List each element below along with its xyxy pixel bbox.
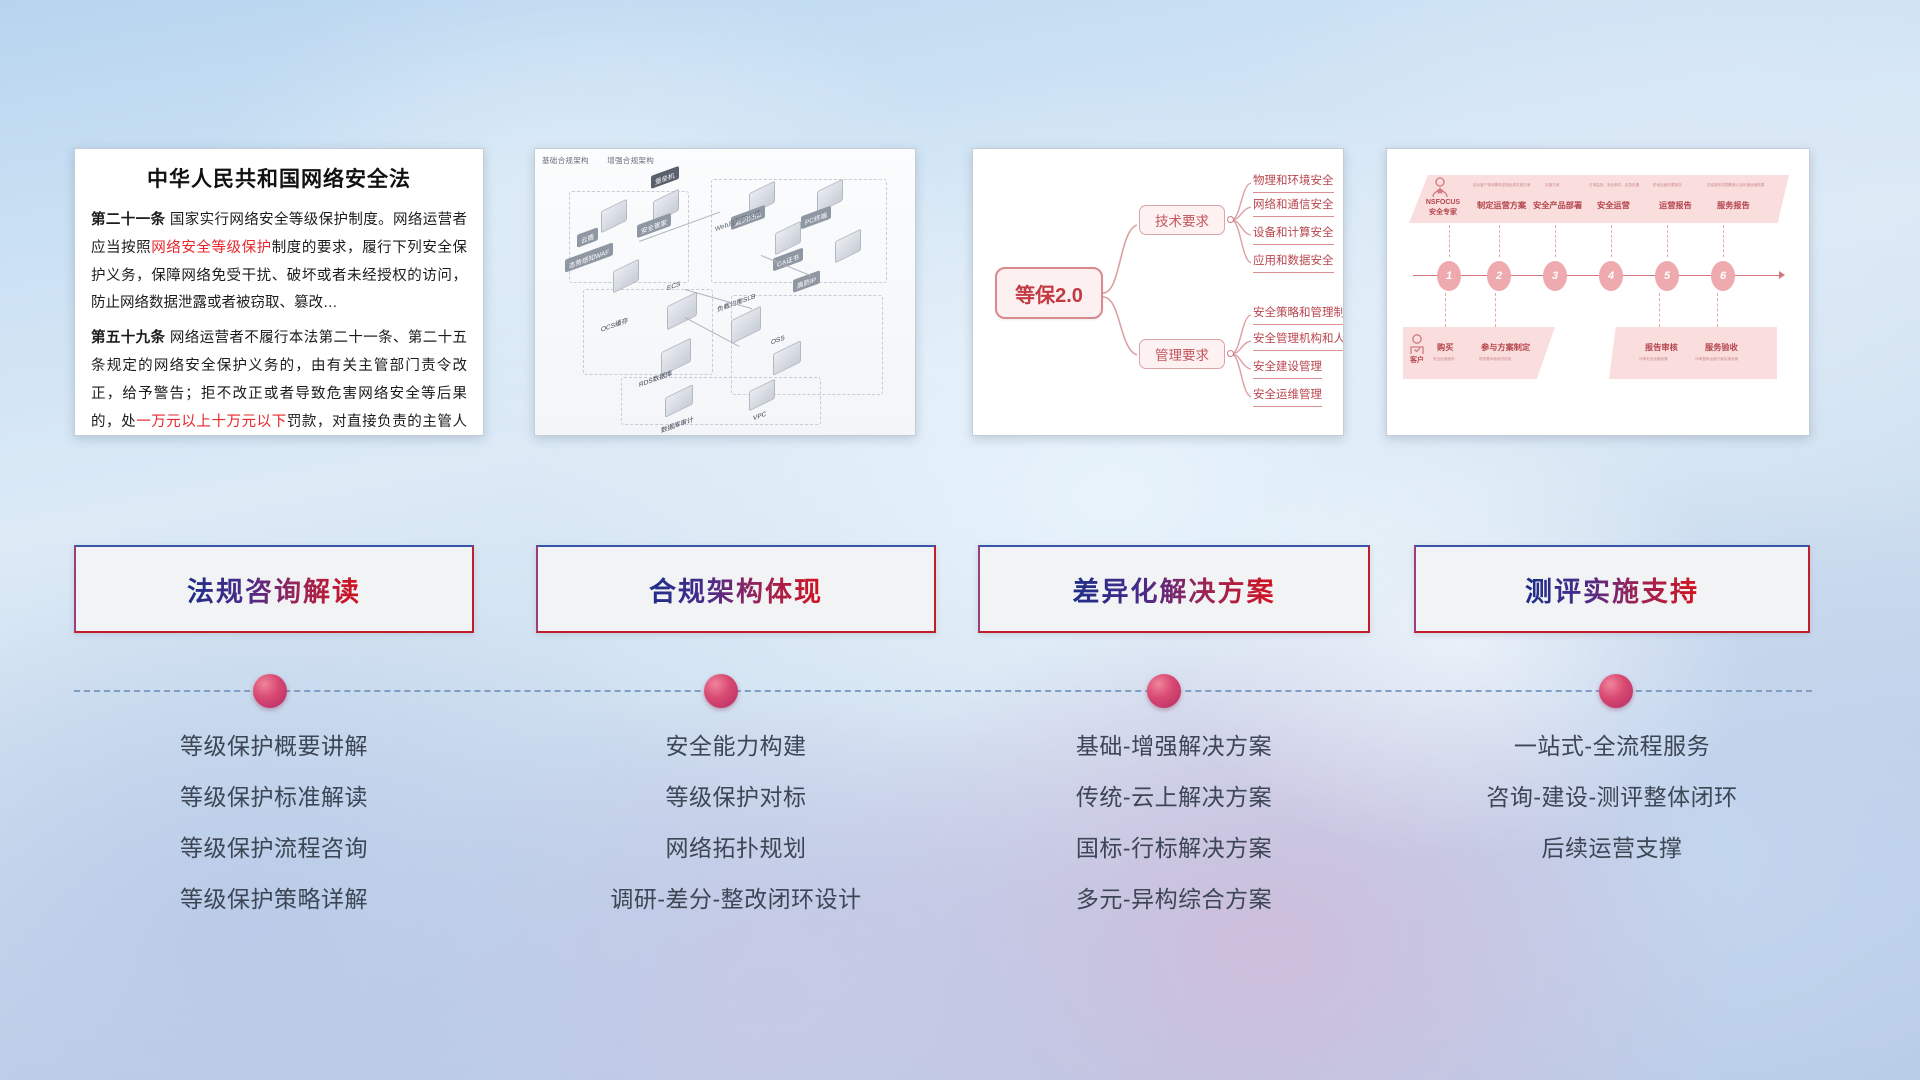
section-title-box-1[interactable]: 法规咨询解读	[74, 545, 474, 633]
mindmap-leaf: 应用和数据安全	[1253, 253, 1334, 273]
architecture-label: 堡垒机	[651, 166, 679, 189]
section-title-text: 合规架构体现	[649, 570, 823, 609]
timeline-bottom-left-band	[1403, 327, 1555, 379]
detail-columns: 等级保护概要讲解 等级保护标准解读 等级保护流程咨询 等级保护策略详解 安全能力…	[0, 735, 1920, 975]
list-item: 等级保护概要讲解	[74, 735, 474, 758]
timeline-step-note: 提供基本面状况信息	[1479, 357, 1511, 362]
timeline-step-number: 6	[1711, 261, 1735, 291]
timeline-dash-connector	[1717, 293, 1718, 327]
mindmap-leaf: 安全运维管理	[1253, 387, 1322, 407]
timeline-dash-connector	[1723, 225, 1724, 257]
timeline-dash-connector	[1659, 293, 1660, 327]
list-item: 咨询-建设-测评整体闭环	[1414, 786, 1810, 809]
law-article-59-label: 第五十九条	[91, 330, 165, 346]
architecture-header-right: 增强合规架构	[607, 156, 654, 165]
timeline-node-4[interactable]	[1599, 674, 1633, 708]
section-title-box-4[interactable]: 测评实施支持	[1414, 545, 1810, 633]
mindmap-leaf: 设备和计算安全	[1253, 225, 1334, 245]
mindmap-card: 等保2.0 技术要求 物理和环境安全 网络和通信安全 设备和计算安全 应用和数据…	[972, 148, 1344, 436]
timeline-dash-connector	[1499, 225, 1500, 257]
timeline-step-number: 1	[1437, 261, 1461, 291]
mindmap-collapse-icon	[1227, 216, 1234, 223]
list-item: 调研-差分-整改闭环设计	[536, 888, 936, 911]
law-article-21: 第二十一条 国家实行网络安全等级保护制度。网络运营者应当按照网络安全等级保护制度…	[91, 207, 467, 318]
timeline-step-title: 报告审核	[1645, 341, 1678, 353]
list-item: 等级保护流程咨询	[74, 837, 474, 860]
timeline-step-title: 购买	[1437, 341, 1453, 353]
timeline-step-title: 服务报告	[1717, 199, 1750, 211]
timeline-step-title: 安全运营	[1597, 199, 1630, 211]
mindmap-leaf: 网络和通信安全	[1253, 197, 1334, 217]
list-item: 等级保护标准解读	[74, 786, 474, 809]
timeline-step-number: 4	[1599, 261, 1623, 291]
architecture-header-left: 基础合规架构	[542, 156, 589, 165]
architecture-canvas: 基础合规架构 增强合规架构	[535, 149, 915, 435]
law-article-59-highlight-1: 一万元以上十万元以下	[136, 414, 287, 430]
timeline-step-number: 3	[1543, 261, 1567, 291]
list-item: 多元-异构综合方案	[978, 888, 1370, 911]
timeline-dashed-line	[74, 690, 1812, 692]
list-item: 传统-云上解决方案	[978, 786, 1370, 809]
law-article-21-highlight: 网络安全等级保护	[151, 240, 272, 256]
service-timeline-card: NSFOCUS 安全专家 结合客户现状需求定制出具实施方案 制定运营方案 实施方…	[1386, 148, 1810, 436]
timeline-node-1[interactable]	[253, 674, 287, 708]
list-item: 网络拓扑规划	[536, 837, 936, 860]
law-document-body: 中华人民共和国网络安全法 第二十一条 国家实行网络安全等级保护制度。网络运营者应…	[75, 149, 483, 436]
timeline-step-note: 评审整体运营方案实施效果	[1695, 357, 1738, 362]
section-title-box-2[interactable]: 合规架构体现	[536, 545, 936, 633]
timeline-dash-connector	[1449, 225, 1450, 257]
section-title-row: 法规咨询解读 合规架构体现 差异化解决方案 测评实施支持	[0, 545, 1920, 640]
reference-card-row: 中华人民共和国网络安全法 第二十一条 国家实行网络安全等级保护制度。网络运营者应…	[0, 148, 1920, 448]
timeline-dash-connector	[1445, 293, 1446, 327]
brand-name: NSFOCUS	[1417, 199, 1469, 208]
brand-subtitle: 安全专家	[1417, 209, 1469, 218]
timeline-step-note: 结合客户现状需求定制出具实施方案	[1473, 183, 1531, 188]
timeline-dash-connector	[1555, 225, 1556, 257]
list-item: 一站式-全流程服务	[1414, 735, 1810, 758]
architecture-diagram-card: 基础合规架构 增强合规架构	[534, 148, 916, 436]
timeline-step-note: 评审安全运营效果	[1639, 357, 1668, 362]
mindmap-canvas: 等保2.0 技术要求 物理和环境安全 网络和通信安全 设备和计算安全 应用和数据…	[973, 149, 1343, 435]
timeline-step-title: 运营报告	[1659, 199, 1692, 211]
timeline-step-title: 参与方案制定	[1481, 341, 1530, 353]
timeline-step-title: 制定运营方案	[1477, 199, 1526, 211]
list-item: 安全能力构建	[536, 735, 936, 758]
list-item: 等级保护对标	[536, 786, 936, 809]
mindmap-branch-management: 管理要求	[1139, 339, 1225, 369]
mindmap-leaf: 安全建设管理	[1253, 359, 1322, 379]
section-title-text: 法规咨询解读	[187, 570, 361, 609]
detail-column-1: 等级保护概要讲解 等级保护标准解读 等级保护流程咨询 等级保护策略详解	[74, 735, 474, 939]
service-timeline-canvas: NSFOCUS 安全专家 结合客户现状需求定制出具实施方案 制定运营方案 实施方…	[1387, 149, 1809, 435]
law-article-21-label: 第二十一条	[91, 212, 165, 228]
list-item: 国标-行标解决方案	[978, 837, 1370, 860]
timeline-node-2[interactable]	[704, 674, 738, 708]
mindmap-leaf: 安全策略和管理制度	[1253, 305, 1344, 325]
timeline-step-note: 阶段运营效果报告	[1653, 183, 1682, 188]
list-item: 基础-增强解决方案	[978, 735, 1370, 758]
timeline-dash-connector	[1495, 293, 1496, 327]
mindmap-leaf: 物理和环境安全	[1253, 173, 1334, 193]
timeline-step-number: 2	[1487, 261, 1511, 291]
timeline-arrow-icon	[1779, 271, 1785, 279]
progress-timeline	[0, 660, 1920, 720]
timeline-node-3[interactable]	[1147, 674, 1181, 708]
section-title-text: 差异化解决方案	[1073, 570, 1276, 609]
timeline-step-number: 5	[1655, 261, 1679, 291]
timeline-step-note: 日常监测、安全事件、应急处置	[1589, 183, 1639, 188]
timeline-step-title: 服务验收	[1705, 341, 1738, 353]
list-item: 等级保护策略详解	[74, 888, 474, 911]
architecture-header: 基础合规架构 增强合规架构	[542, 155, 670, 166]
mindmap-leaf: 安全管理机构和人员	[1253, 331, 1344, 351]
mindmap-branch-technical: 技术要求	[1139, 205, 1225, 235]
section-title-box-3[interactable]: 差异化解决方案	[978, 545, 1370, 633]
customer-avatar-icon	[1409, 333, 1425, 355]
timeline-step-note: 实施方案	[1545, 183, 1559, 188]
timeline-step-note: 总结服务范围覆盖以及年度运营效果	[1707, 183, 1765, 188]
mindmap-collapse-icon	[1227, 350, 1234, 357]
detail-column-2: 安全能力构建 等级保护对标 网络拓扑规划 调研-差分-整改闭环设计	[536, 735, 936, 939]
timeline-step-title: 安全产品部署	[1533, 199, 1582, 211]
expert-avatar-icon	[1431, 177, 1449, 199]
mindmap-root-node: 等保2.0	[995, 267, 1103, 319]
detail-column-3: 基础-增强解决方案 传统-云上解决方案 国标-行标解决方案 多元-异构综合方案	[978, 735, 1370, 939]
list-item: 后续运营支撑	[1414, 837, 1810, 860]
detail-column-4: 一站式-全流程服务 咨询-建设-测评整体闭环 后续运营支撑	[1414, 735, 1810, 888]
timeline-dash-connector	[1611, 225, 1612, 257]
timeline-dash-connector	[1667, 225, 1668, 257]
section-title-text: 测评实施支持	[1525, 570, 1699, 609]
slide-stage: 中华人民共和国网络安全法 第二十一条 国家实行网络安全等级保护制度。网络运营者应…	[0, 0, 1920, 1080]
law-article-59: 第五十九条 网络运营者不履行本法第二十一条、第二十五条规定的网络安全保护义务的，…	[91, 325, 467, 436]
customer-label: 客户	[1403, 357, 1431, 366]
timeline-bottom-right-band	[1609, 327, 1777, 379]
law-document-card: 中华人民共和国网络安全法 第二十一条 国家实行网络安全等级保护制度。网络运营者应…	[74, 148, 484, 436]
timeline-step-note: 安全运营服务	[1433, 357, 1455, 362]
law-title: 中华人民共和国网络安全法	[91, 163, 467, 193]
